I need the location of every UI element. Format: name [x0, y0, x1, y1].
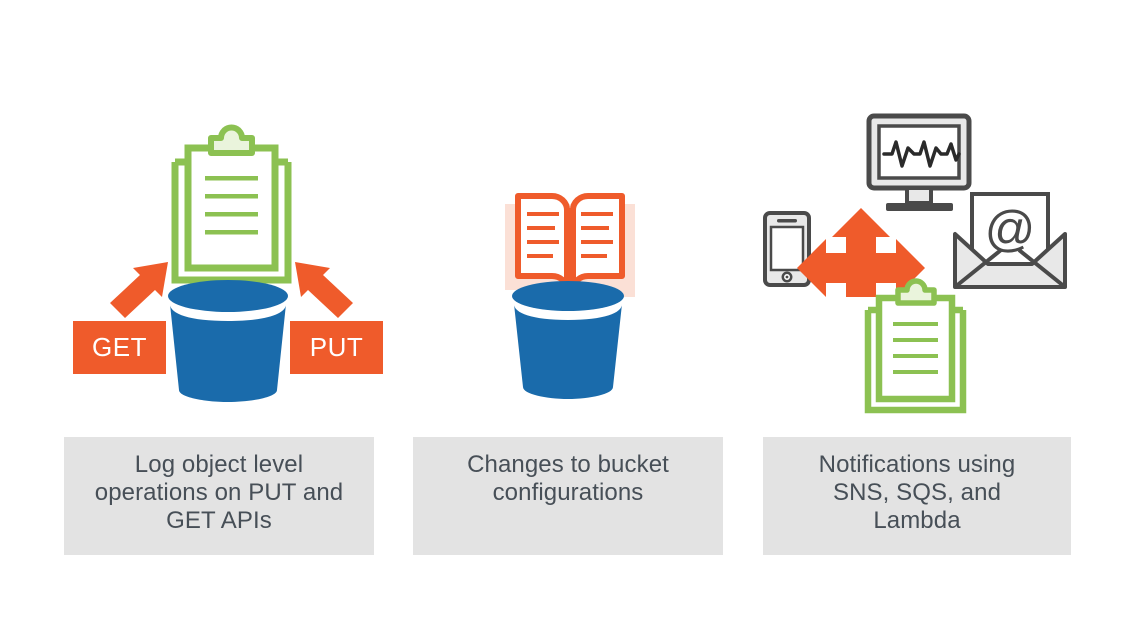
badge-put: PUT: [290, 321, 383, 374]
monitor-heartbeat-icon: [869, 116, 969, 211]
caption-text: Log object level operations on PUT and G…: [95, 451, 344, 535]
arrow-up-right-icon: [110, 262, 168, 318]
arrow-up-left-icon: [295, 262, 353, 318]
panel-2-artwork: [400, 90, 740, 430]
clipboard-icon: [175, 128, 288, 281]
diagram-canvas: GET PUT: [0, 0, 1135, 638]
three-way-arrow-icon: [797, 208, 925, 297]
caption-text: Notifications using SNS, SQS, and Lambda: [819, 451, 1016, 535]
at-symbol-glyph: @: [985, 201, 1036, 257]
email-envelope-at-icon: @: [955, 194, 1065, 287]
s3-bucket-icon: [512, 281, 624, 399]
smartphone-icon: [765, 213, 809, 285]
caption-box-notifications-using-sns-sqs-lambda: Notifications using SNS, SQS, and Lambda: [763, 437, 1071, 555]
badge-get: GET: [73, 321, 166, 374]
s3-bucket-icon: [168, 280, 288, 402]
caption-box-log-object-level-operations: Log object level operations on PUT and G…: [64, 437, 374, 555]
panel-3-artwork: @: [750, 90, 1135, 430]
caption-box-changes-to-bucket-configurations: Changes to bucket configurations: [413, 437, 723, 555]
panel-1-artwork: [0, 90, 440, 430]
caption-text: Changes to bucket configurations: [467, 451, 669, 507]
clipboard-icon: [868, 281, 963, 410]
